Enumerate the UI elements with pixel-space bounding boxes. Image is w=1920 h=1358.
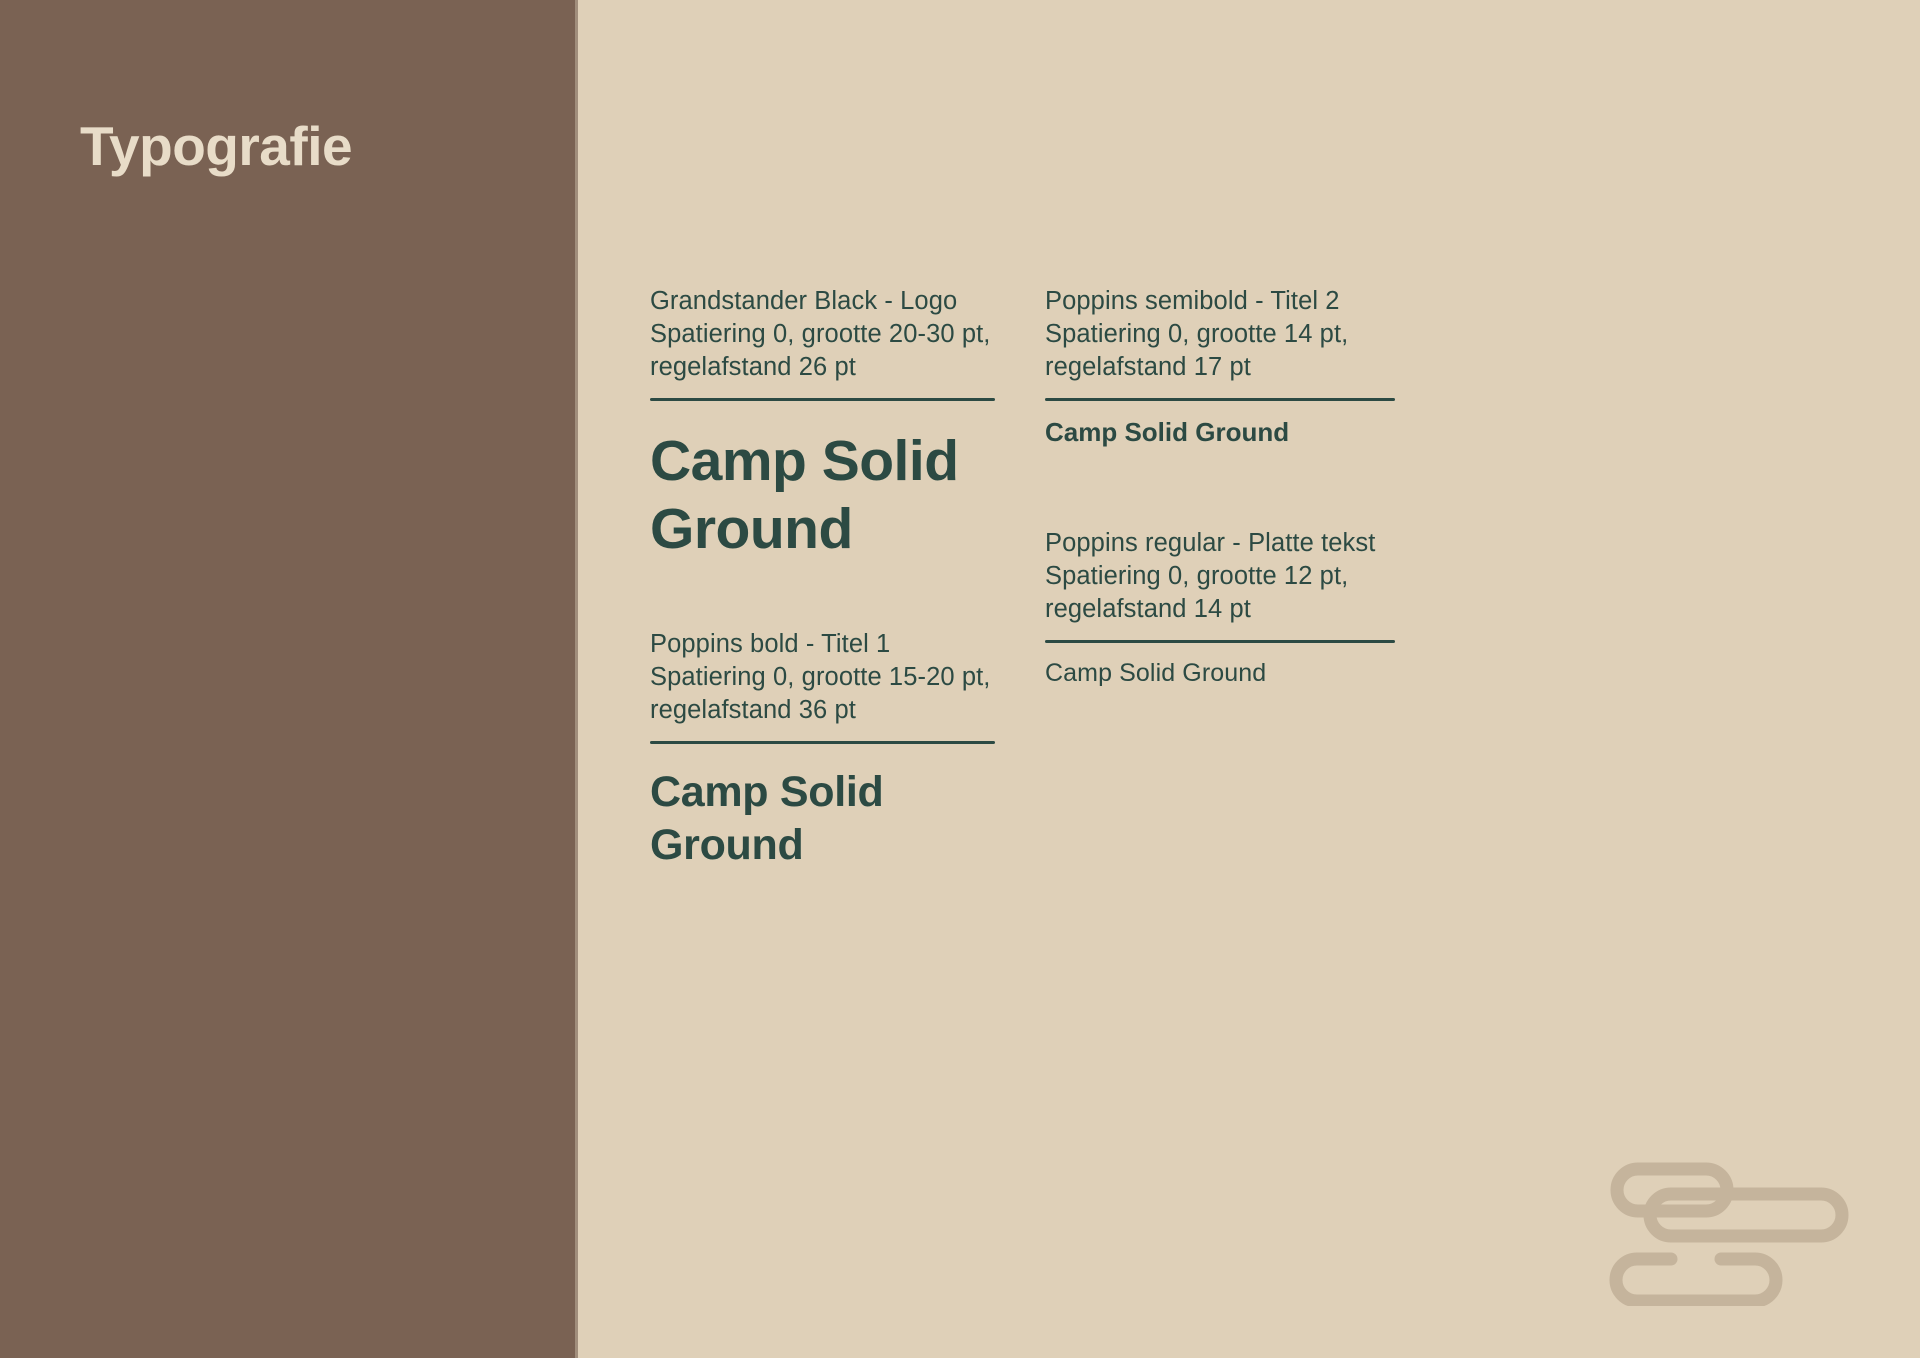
spec-block-body: Poppins regular - Platte tekst Spatierin… (1045, 527, 1395, 689)
brand-watermark-logo (1607, 1160, 1865, 1306)
spec-divider-body (1045, 640, 1395, 643)
watermark-pill-bottom (1616, 1259, 1776, 1301)
spec-sample-title1: Camp Solid Ground (650, 766, 995, 872)
spec-sample-logo: Camp Solid Ground (650, 427, 995, 563)
spec-sample-title2: Camp Solid Ground (1045, 415, 1395, 449)
spec-divider-title2 (1045, 398, 1395, 401)
title-panel (0, 0, 575, 1358)
page-title: Typografie (80, 118, 352, 176)
spec-meta-title2: Poppins semibold - Titel 2 Spatiering 0,… (1045, 285, 1395, 384)
spec-block-logo: Grandstander Black - Logo Spatiering 0, … (650, 285, 995, 563)
spec-meta-body: Poppins regular - Platte tekst Spatierin… (1045, 527, 1395, 626)
spec-block-title2: Poppins semibold - Titel 2 Spatiering 0,… (1045, 285, 1395, 449)
spec-divider-title1 (650, 741, 995, 744)
typography-specimen-area: Grandstander Black - Logo Spatiering 0, … (575, 0, 1920, 1358)
spec-divider-logo (650, 398, 995, 401)
spec-meta-logo: Grandstander Black - Logo Spatiering 0, … (650, 285, 995, 384)
spec-sample-body: Camp Solid Ground (1045, 657, 1395, 689)
spec-meta-title1: Poppins bold - Titel 1 Spatiering 0, gro… (650, 628, 995, 727)
spec-block-title1: Poppins bold - Titel 1 Spatiering 0, gro… (650, 628, 995, 872)
